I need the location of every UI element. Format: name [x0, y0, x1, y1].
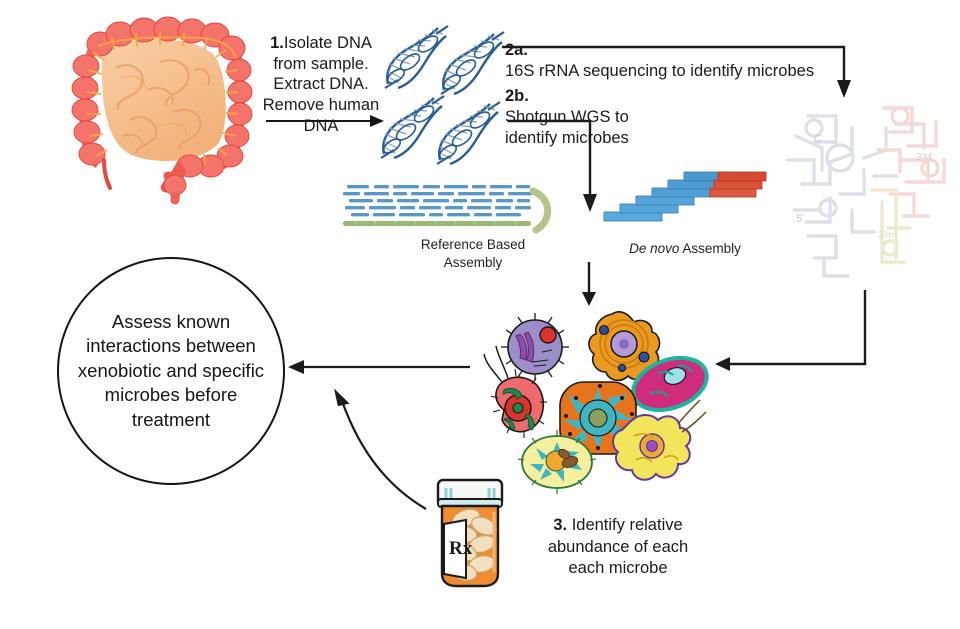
large-intestine-illustration: [60, 8, 260, 190]
small-intestine: [102, 39, 226, 161]
ref-asm-line2: Assembly: [398, 254, 548, 272]
arrow-sample-to-dna: [264, 110, 388, 132]
ref-asm-line1: Reference Based: [398, 236, 548, 254]
arrow-rrna-to-microbes: [714, 288, 870, 374]
step-3-number: 3.: [553, 516, 567, 534]
arrow-microbes-to-conclusion: [284, 356, 474, 378]
dna-double-helix-cluster: [378, 18, 500, 170]
de-novo-assembly-graphic: [602, 168, 768, 226]
step-2b-number: 2b.: [505, 87, 529, 105]
appendix: [104, 160, 110, 188]
conclusion-text: Assess known interactions between xenobi…: [59, 310, 283, 433]
rrna-domain-tan: [872, 190, 910, 262]
reference-assembly-curve-arrow: [527, 188, 561, 234]
rrna-domain-pink: [878, 108, 944, 216]
microbe-cluster: [482, 302, 714, 484]
reference-based-assembly-caption: Reference Based Assembly: [398, 236, 548, 271]
denovo-label-italic: De novo: [629, 241, 679, 256]
pill-bottle-rx-label: Rx: [449, 538, 473, 559]
microbe-purple-coccus: [501, 313, 569, 381]
rrna-label-3m: 3'm: [878, 230, 894, 241]
step-3-text: Identify relative abundance of each each…: [548, 516, 688, 577]
rrna-label-3M: 3'M: [916, 152, 932, 163]
16s-rrna-secondary-structure: C 5' 3'M 3'm: [778, 98, 960, 282]
rrna-label-5prime: 5': [796, 213, 804, 225]
reference-based-assembly-graphic: [341, 182, 535, 230]
prescription-pill-bottle: Rx: [420, 474, 520, 592]
rrna-domain-grey: [788, 116, 896, 276]
rrna-label-c: C: [814, 133, 822, 145]
figure-canvas: 1.Isolate DNA from sample. Extract DNA. …: [0, 0, 960, 629]
step-1-number: 1.: [270, 34, 284, 52]
step-3-label: 3. Identify relative abundance of each e…: [520, 494, 716, 580]
conclusion-circle: Assess known interactions between xenobi…: [57, 257, 285, 485]
denovo-label-rest: Assembly: [679, 241, 741, 256]
de-novo-assembly-caption: De novo Assembly: [615, 240, 755, 258]
sigmoid-rectum: [161, 160, 186, 204]
